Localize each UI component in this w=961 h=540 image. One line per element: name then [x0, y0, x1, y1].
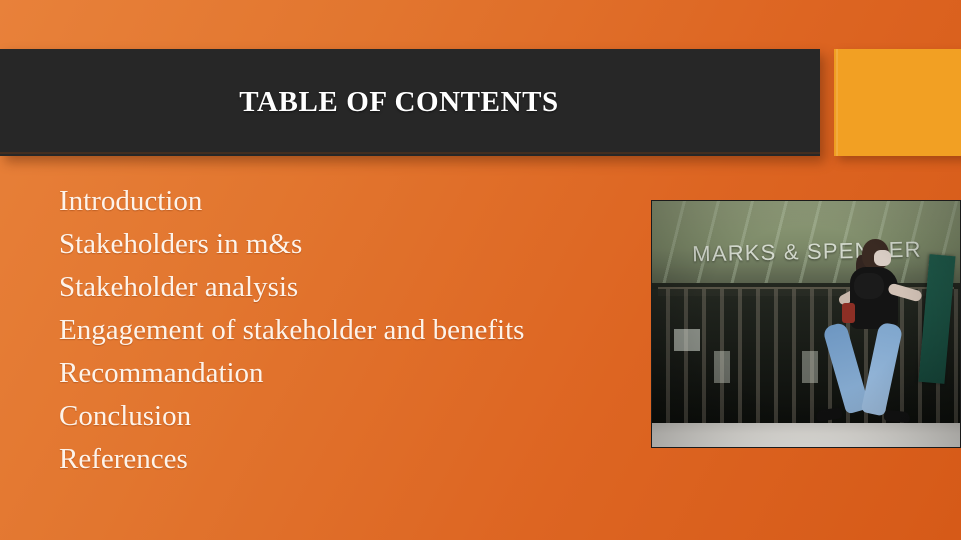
list-item: References: [59, 438, 659, 481]
title-bar: TABLE OF CONTENTS: [0, 49, 820, 156]
list-item: Stakeholder analysis: [59, 266, 659, 309]
list-item: Stakeholders in m&s: [59, 223, 659, 266]
accent-block-decoration: [834, 49, 961, 156]
photo-backdrop: MARKS & SPENCER: [652, 201, 960, 447]
figure-face: [874, 250, 891, 266]
list-item: Engagement of stakeholder and benefits: [59, 309, 659, 352]
presentation-slide: TABLE OF CONTENTS Introduction Stakehold…: [0, 0, 961, 540]
figure-bag: [842, 303, 855, 323]
figure-back-shoe: [815, 407, 842, 422]
interior-light-panel: [674, 329, 700, 351]
list-item: Recommandation: [59, 352, 659, 395]
storefront-photo: MARKS & SPENCER: [651, 200, 961, 448]
interior-light-panel: [714, 351, 730, 383]
table-of-contents-list: Introduction Stakeholders in m&s Stakeho…: [59, 180, 659, 481]
page-title: TABLE OF CONTENTS: [239, 88, 581, 117]
walking-woman-figure: [812, 239, 928, 433]
figure-front-shoe: [883, 410, 910, 424]
figure-sleeve: [854, 273, 884, 299]
list-item: Conclusion: [59, 395, 659, 438]
figure-front-leg: [861, 322, 904, 417]
list-item: Introduction: [59, 180, 659, 223]
